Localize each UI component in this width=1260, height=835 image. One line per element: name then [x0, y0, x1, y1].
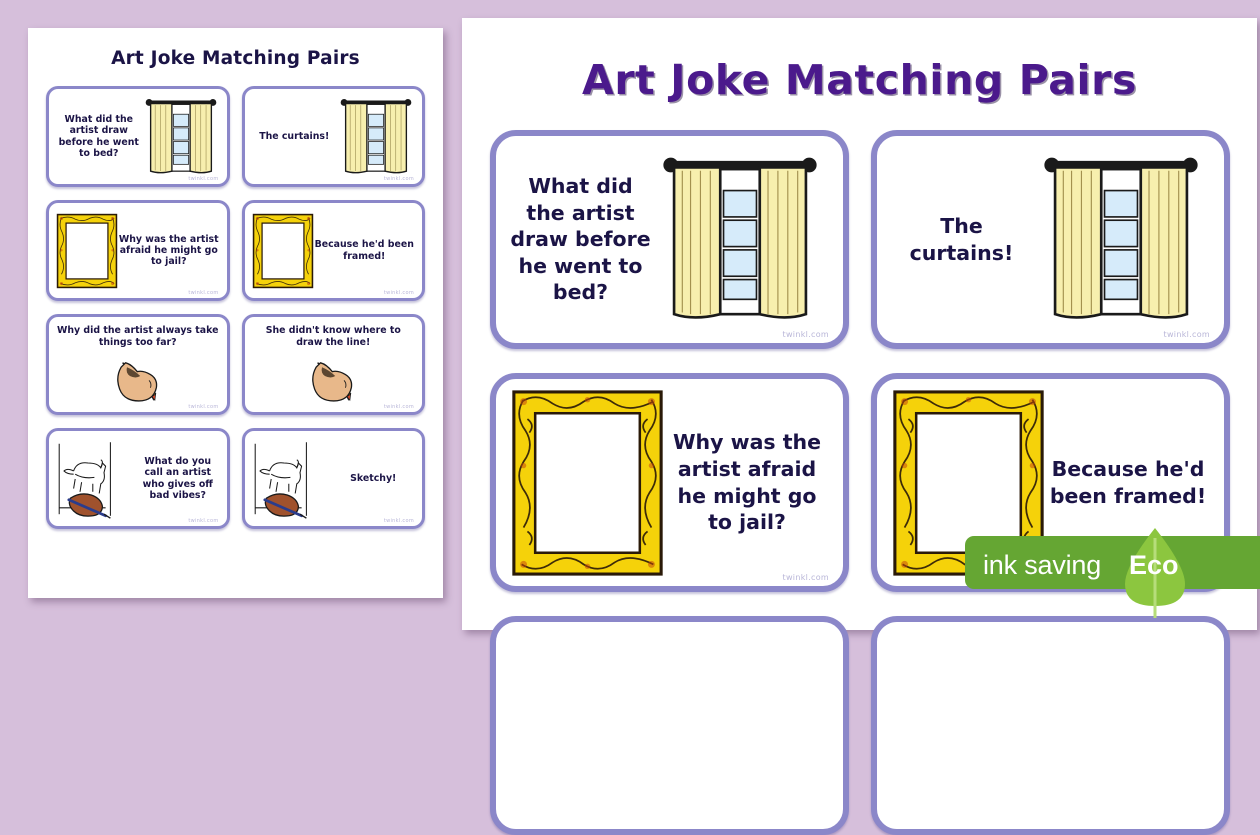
joke-card-partial[interactable]	[871, 616, 1230, 835]
picture-frame-icon	[510, 388, 665, 578]
joke-card[interactable]: What did the artist draw before he went …	[490, 130, 849, 349]
left-preview-panel: Art Joke Matching Pairs What did the art…	[28, 28, 443, 598]
left-card-grid: What did the artist draw before he went …	[46, 86, 425, 529]
picture-frame-icon	[252, 213, 314, 289]
ink-saving-eco-badge: ink saving Eco	[965, 528, 1260, 596]
card-text: What did the artist draw before he went …	[56, 114, 142, 158]
watermark: twinkl.com	[188, 518, 218, 524]
card-text: The curtains!	[252, 131, 338, 142]
hand-sketching-cow-icon	[252, 439, 332, 519]
joke-card[interactable]: Why was the artist afraid he might go to…	[490, 373, 849, 592]
right-card-grid: What did the artist draw before he went …	[490, 130, 1230, 835]
hand-pencil-icon	[105, 348, 171, 404]
watermark: twinkl.com	[188, 404, 218, 410]
watermark: twinkl.com	[384, 404, 414, 410]
card-text: Because he'd been framed!	[314, 239, 416, 261]
eco-badge-word: Eco	[1129, 550, 1179, 581]
card-text: Because he'd been framed!	[1046, 456, 1210, 509]
watermark: twinkl.com	[188, 176, 218, 182]
joke-card[interactable]: Why was the artist afraid he might go to…	[46, 200, 230, 301]
joke-card[interactable]: What do you call an artist who gives off…	[46, 428, 230, 529]
watermark: twinkl.com	[1164, 330, 1210, 339]
card-text: What did the artist draw before he went …	[510, 173, 651, 306]
right-page-title: Art Joke Matching Pairs	[462, 56, 1257, 104]
curtains-window-icon	[337, 96, 415, 178]
card-text: Why did the artist always take things to…	[56, 325, 220, 347]
watermark: twinkl.com	[188, 290, 218, 296]
joke-card-partial[interactable]	[490, 616, 849, 835]
joke-card[interactable]: Why did the artist always take things to…	[46, 314, 230, 415]
watermark: twinkl.com	[384, 176, 414, 182]
curtains-window-icon	[1032, 151, 1210, 329]
curtains-window-icon	[142, 96, 220, 178]
watermark: twinkl.com	[783, 330, 829, 339]
card-text: Why was the artist afraid he might go to…	[665, 429, 829, 536]
curtains-window-icon	[651, 151, 829, 329]
picture-frame-icon	[56, 213, 118, 289]
joke-card[interactable]: The curtains! t	[242, 86, 426, 187]
hand-pencil-icon	[300, 348, 366, 404]
joke-card[interactable]: The curtains! t	[871, 130, 1230, 349]
joke-card[interactable]: Because he'd been framed! twinkl.com	[242, 200, 426, 301]
card-text: Sketchy!	[332, 473, 416, 484]
card-text: She didn't know where to draw the line!	[252, 325, 416, 347]
card-text: The curtains!	[891, 213, 1032, 266]
watermark: twinkl.com	[783, 573, 829, 582]
card-text: What do you call an artist who gives off…	[136, 456, 220, 500]
card-text: Why was the artist afraid he might go to…	[118, 234, 220, 267]
watermark: twinkl.com	[384, 290, 414, 296]
watermark: twinkl.com	[384, 518, 414, 524]
left-page-title: Art Joke Matching Pairs	[28, 48, 443, 69]
joke-card[interactable]: She didn't know where to draw the line! …	[242, 314, 426, 415]
joke-card[interactable]: What did the artist draw before he went …	[46, 86, 230, 187]
eco-badge-label: ink saving	[983, 550, 1101, 581]
hand-sketching-cow-icon	[56, 439, 136, 519]
joke-card[interactable]: Sketchy! twinkl.com	[242, 428, 426, 529]
